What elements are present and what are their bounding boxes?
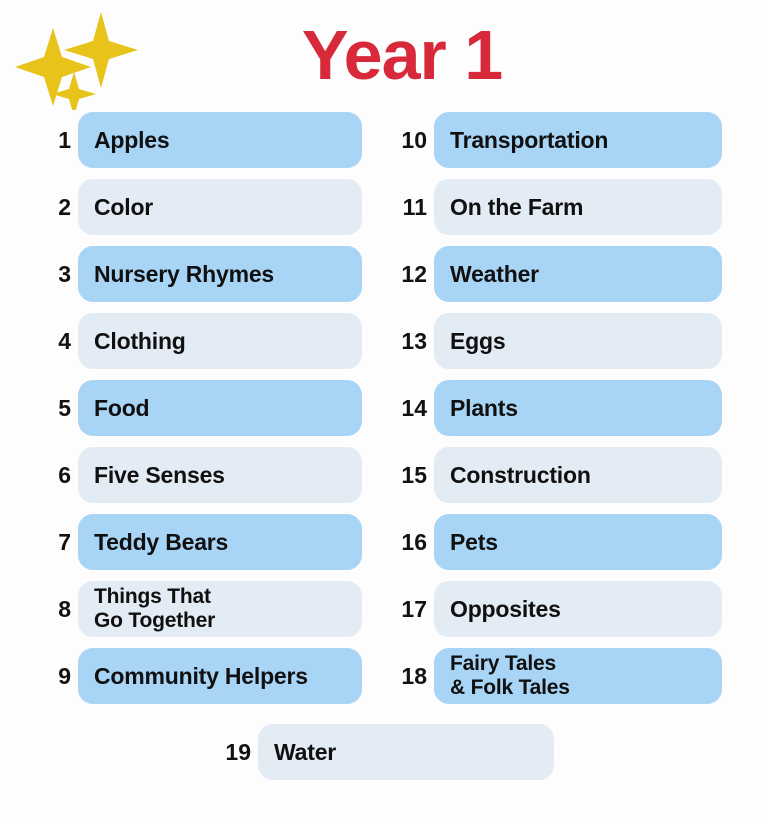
theme-pill[interactable]: Pets (434, 514, 722, 570)
theme-row[interactable]: 13Eggs (398, 313, 722, 369)
theme-row[interactable]: 6Five Senses (42, 447, 362, 503)
theme-pill[interactable]: Transportation (434, 112, 722, 168)
theme-label: Pets (450, 530, 498, 554)
theme-row-number: 15 (398, 464, 434, 487)
theme-column-left: 1Apples2Color3Nursery Rhymes4Clothing5Fo… (42, 112, 362, 715)
theme-pill[interactable]: Things That Go Together (78, 581, 362, 637)
theme-label: On the Farm (450, 195, 583, 219)
theme-row-footer: 19Water (218, 724, 554, 780)
theme-row-number: 4 (42, 330, 78, 353)
theme-row-number: 6 (42, 464, 78, 487)
theme-label: Community Helpers (94, 664, 308, 688)
theme-label: Teddy Bears (94, 530, 228, 554)
theme-pill[interactable]: Clothing (78, 313, 362, 369)
theme-row[interactable]: 10Transportation (398, 112, 722, 168)
page-title: Year 1 (18, 14, 768, 96)
theme-label: Eggs (450, 329, 505, 353)
theme-pill[interactable]: Apples (78, 112, 362, 168)
theme-row[interactable]: 4Clothing (42, 313, 362, 369)
theme-pill[interactable]: Community Helpers (78, 648, 362, 704)
theme-row-number: 5 (42, 397, 78, 420)
theme-row[interactable]: 14Plants (398, 380, 722, 436)
theme-row-number: 17 (398, 598, 434, 621)
theme-row-number: 12 (398, 263, 434, 286)
theme-pill[interactable]: Eggs (434, 313, 722, 369)
theme-pill[interactable]: Plants (434, 380, 722, 436)
theme-row[interactable]: 15Construction (398, 447, 722, 503)
theme-pill[interactable]: Construction (434, 447, 722, 503)
theme-label: Nursery Rhymes (94, 262, 274, 286)
theme-row[interactable]: 7Teddy Bears (42, 514, 362, 570)
theme-pill[interactable]: Nursery Rhymes (78, 246, 362, 302)
theme-label: Food (94, 396, 149, 420)
theme-pill[interactable]: On the Farm (434, 179, 722, 235)
theme-pill[interactable]: Teddy Bears (78, 514, 362, 570)
theme-pill[interactable]: Food (78, 380, 362, 436)
theme-pill[interactable]: Color (78, 179, 362, 235)
theme-row[interactable]: 3Nursery Rhymes (42, 246, 362, 302)
theme-row-number: 9 (42, 665, 78, 688)
theme-label: Water (274, 740, 336, 764)
theme-row[interactable]: 18Fairy Tales & Folk Tales (398, 648, 722, 704)
theme-row[interactable]: 17Opposites (398, 581, 722, 637)
theme-row[interactable]: 9Community Helpers (42, 648, 362, 704)
theme-row[interactable]: 8Things That Go Together (42, 581, 362, 637)
theme-row-number: 18 (398, 665, 434, 688)
theme-pill[interactable]: Weather (434, 246, 722, 302)
theme-label: Apples (94, 128, 169, 152)
theme-row-number: 1 (42, 129, 78, 152)
theme-row-number: 13 (398, 330, 434, 353)
theme-row-number: 3 (42, 263, 78, 286)
theme-label: Opposites (450, 597, 561, 621)
theme-label: Things That Go Together (94, 585, 215, 632)
theme-row-number: 10 (398, 129, 434, 152)
theme-label: Five Senses (94, 463, 225, 487)
theme-row[interactable]: 19Water (218, 724, 554, 780)
theme-label: Transportation (450, 128, 608, 152)
theme-label: Construction (450, 463, 591, 487)
theme-pill[interactable]: Five Senses (78, 447, 362, 503)
theme-row-number: 2 (42, 196, 78, 219)
theme-row[interactable]: 1Apples (42, 112, 362, 168)
theme-row-number: 19 (218, 741, 258, 764)
theme-column-right: 10Transportation11On the Farm12Weather13… (398, 112, 722, 715)
theme-row[interactable]: 16Pets (398, 514, 722, 570)
theme-pill[interactable]: Opposites (434, 581, 722, 637)
theme-row-number: 11 (398, 196, 434, 219)
theme-row[interactable]: 5Food (42, 380, 362, 436)
theme-row-number: 7 (42, 531, 78, 554)
theme-row[interactable]: 12Weather (398, 246, 722, 302)
theme-label: Fairy Tales & Folk Tales (450, 652, 570, 699)
page-header: Year 1 (0, 0, 768, 112)
theme-label: Clothing (94, 329, 186, 353)
theme-label: Weather (450, 262, 539, 286)
theme-label: Plants (450, 396, 518, 420)
theme-row-number: 14 (398, 397, 434, 420)
theme-row-number: 16 (398, 531, 434, 554)
theme-pill[interactable]: Fairy Tales & Folk Tales (434, 648, 722, 704)
theme-row[interactable]: 11On the Farm (398, 179, 722, 235)
theme-row[interactable]: 2Color (42, 179, 362, 235)
theme-pill[interactable]: Water (258, 724, 554, 780)
theme-row-number: 8 (42, 598, 78, 621)
theme-label: Color (94, 195, 153, 219)
